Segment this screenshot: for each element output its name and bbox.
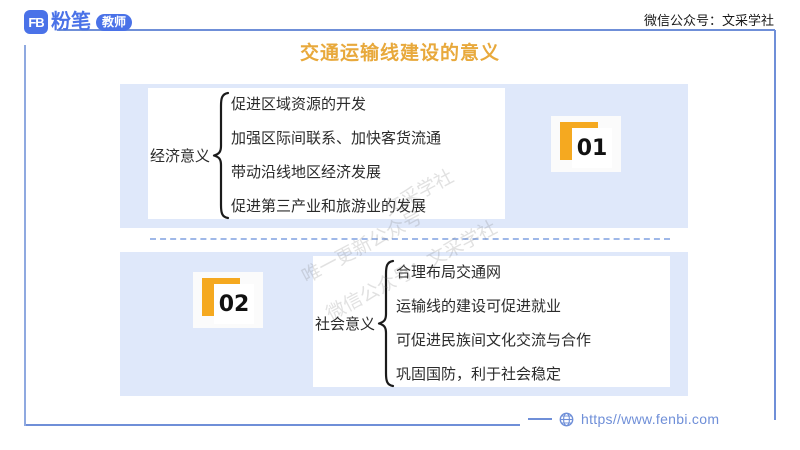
- frame-right-line: [774, 30, 776, 420]
- globe-icon: [559, 412, 574, 427]
- group-label-economic: 经济意义: [150, 145, 210, 166]
- group-economic: 经济意义 促进区域资源的开发 加强区际间联系、加快客货流通 带动沿线地区经济发展…: [150, 90, 441, 221]
- group-social: 社会意义 合理布局交通网 运输线的建设可促进就业 可促进民族间文化交流与合作 巩…: [315, 258, 591, 389]
- list-item: 促进区域资源的开发: [231, 96, 441, 113]
- footer-url-block: https//www.fenbi.com: [528, 411, 719, 427]
- list-item: 巩固国防，利于社会稳定: [396, 366, 591, 383]
- frame-top-line: [57, 29, 775, 31]
- wechat-account-note: 微信公众号：文采学社: [644, 10, 774, 29]
- group-items-economic: 促进区域资源的开发 加强区际间联系、加快客货流通 带动沿线地区经济发展 促进第三…: [231, 92, 441, 219]
- curly-brace-icon: [377, 258, 395, 389]
- brand-logo: FB 粉笔 教师: [24, 9, 132, 35]
- badge-number-label: 01: [572, 128, 612, 168]
- page-title: 交通运输线建设的意义: [0, 38, 800, 65]
- list-item: 合理布局交通网: [396, 264, 591, 281]
- frame-bottom-line: [24, 424, 520, 426]
- brand-name: 粉笔: [51, 12, 91, 32]
- list-item: 运输线的建设可促进就业: [396, 298, 591, 315]
- footer-rule: [528, 418, 552, 420]
- section-number-badge-02: 02: [193, 272, 263, 328]
- list-item: 加强区际间联系、加快客货流通: [231, 130, 441, 147]
- brand-badge: 教师: [96, 14, 132, 31]
- slide-root: FB 粉笔 教师 微信公众号：文采学社 交通运输线建设的意义 经济意义 促进区域…: [0, 0, 800, 450]
- group-label-social: 社会意义: [315, 313, 375, 334]
- section-number-badge-01: 01: [551, 116, 621, 172]
- list-item: 带动沿线地区经济发展: [231, 164, 441, 181]
- frame-left-line: [24, 45, 26, 426]
- curly-brace-icon: [212, 90, 230, 221]
- fenbi-logo-icon: FB: [24, 10, 48, 34]
- footer-url-text[interactable]: https//www.fenbi.com: [581, 411, 719, 427]
- list-item: 可促进民族间文化交流与合作: [396, 332, 591, 349]
- list-item: 促进第三产业和旅游业的发展: [231, 198, 441, 215]
- group-items-social: 合理布局交通网 运输线的建设可促进就业 可促进民族间文化交流与合作 巩固国防，利…: [396, 260, 591, 387]
- section-divider: [150, 238, 670, 240]
- badge-number-label: 02: [214, 284, 254, 324]
